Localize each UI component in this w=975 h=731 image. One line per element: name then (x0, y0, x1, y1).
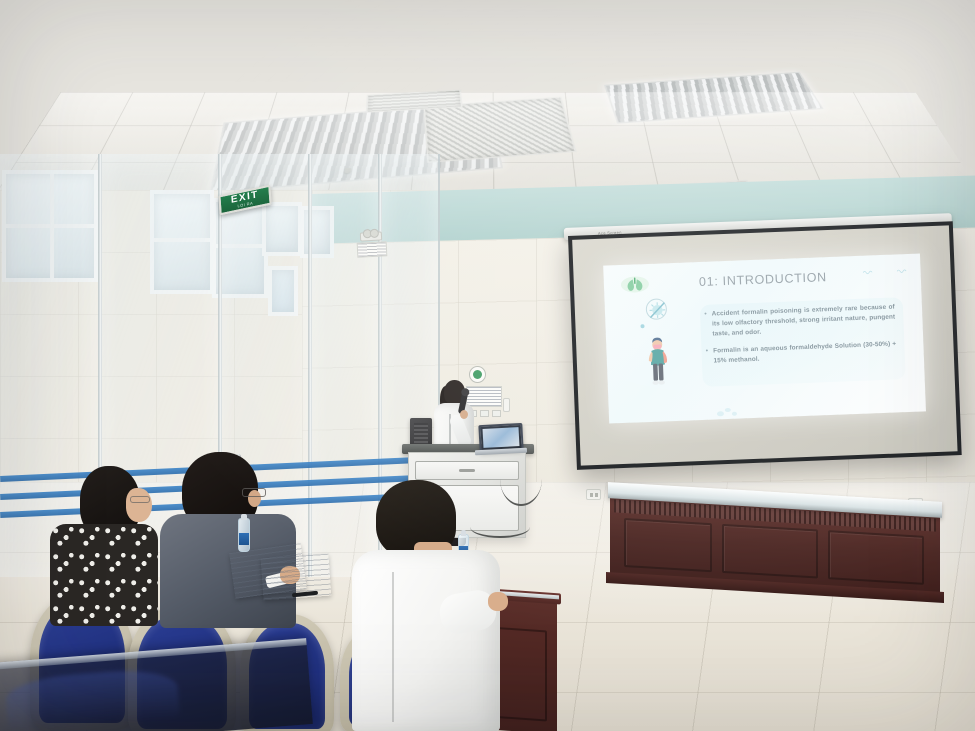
screen-surface: 01: INTRODUCTION • Accident formalin poi… (572, 225, 957, 465)
wave-decoration-icon (897, 260, 911, 266)
bullet-marker-icon: • (704, 310, 708, 340)
lungs-leaf-icon (620, 273, 651, 294)
slide-body: • Accident formalin poisoning is extreme… (700, 297, 906, 387)
chair-reflection (5, 666, 180, 731)
bottle-cap (241, 514, 247, 520)
attendee-woman-face (126, 488, 152, 522)
wave-decoration-icon (862, 262, 876, 268)
presentation-slide: 01: INTRODUCTION • Accident formalin poi… (603, 254, 926, 424)
no-virus-icon (646, 298, 668, 320)
exit-sign-sublabel: LOI RA (237, 201, 253, 208)
projection-screen: 01: INTRODUCTION • Accident formalin poi… (568, 221, 962, 470)
masked-person-illustration (644, 336, 672, 389)
bullet-marker-icon: • (705, 346, 708, 366)
slide-accent-dot (640, 324, 644, 328)
wall-notice-poster (357, 241, 388, 258)
slide-bullet-text: Accident formalin poisoning is extremely… (712, 302, 896, 339)
emergency-light (360, 231, 382, 241)
slide-title: 01: INTRODUCTION (699, 270, 827, 289)
glass-mullion (309, 154, 312, 578)
attendee-woman (50, 466, 160, 626)
slide-bullet-item: • Formalin is an aqueous formaldehyde So… (705, 339, 896, 366)
attendee-man-glasses (242, 488, 266, 497)
presenter-hand (460, 410, 468, 419)
attendee-white-coat-hand (488, 592, 508, 611)
white-coat-seam (392, 572, 394, 722)
power-cable (500, 452, 542, 506)
table-panel-inset (624, 518, 712, 572)
attendee-white-coat-body (352, 550, 500, 731)
bubble-dot (717, 412, 724, 417)
wall-switch-plate[interactable] (492, 410, 501, 417)
water-bottle[interactable] (238, 518, 250, 552)
conference-table (610, 482, 940, 594)
emblem-inner-symbol (473, 370, 482, 379)
table-panel-inset (828, 530, 924, 585)
attendee-white-coat (352, 480, 502, 731)
wall-phone[interactable] (503, 398, 510, 412)
table-panel-inset (722, 524, 818, 579)
wall-switch-plate[interactable] (480, 410, 489, 417)
bubble-dot (732, 412, 737, 416)
bottle-label (239, 533, 249, 545)
attendee-woman-glasses (130, 496, 150, 503)
attendee-woman-torso (50, 524, 158, 626)
slide-bullet-item: • Accident formalin poisoning is extreme… (704, 302, 896, 339)
slide-bullet-text: Formalin is an aqueous formaldehyde Solu… (713, 339, 897, 366)
power-outlet[interactable] (586, 489, 601, 500)
conference-room-photo: EXIT LOI RA Ace Screen (0, 0, 975, 731)
attendee-man-suit (160, 452, 300, 628)
bubble-dot (725, 408, 731, 412)
drawer-pull-handle[interactable] (459, 469, 475, 472)
